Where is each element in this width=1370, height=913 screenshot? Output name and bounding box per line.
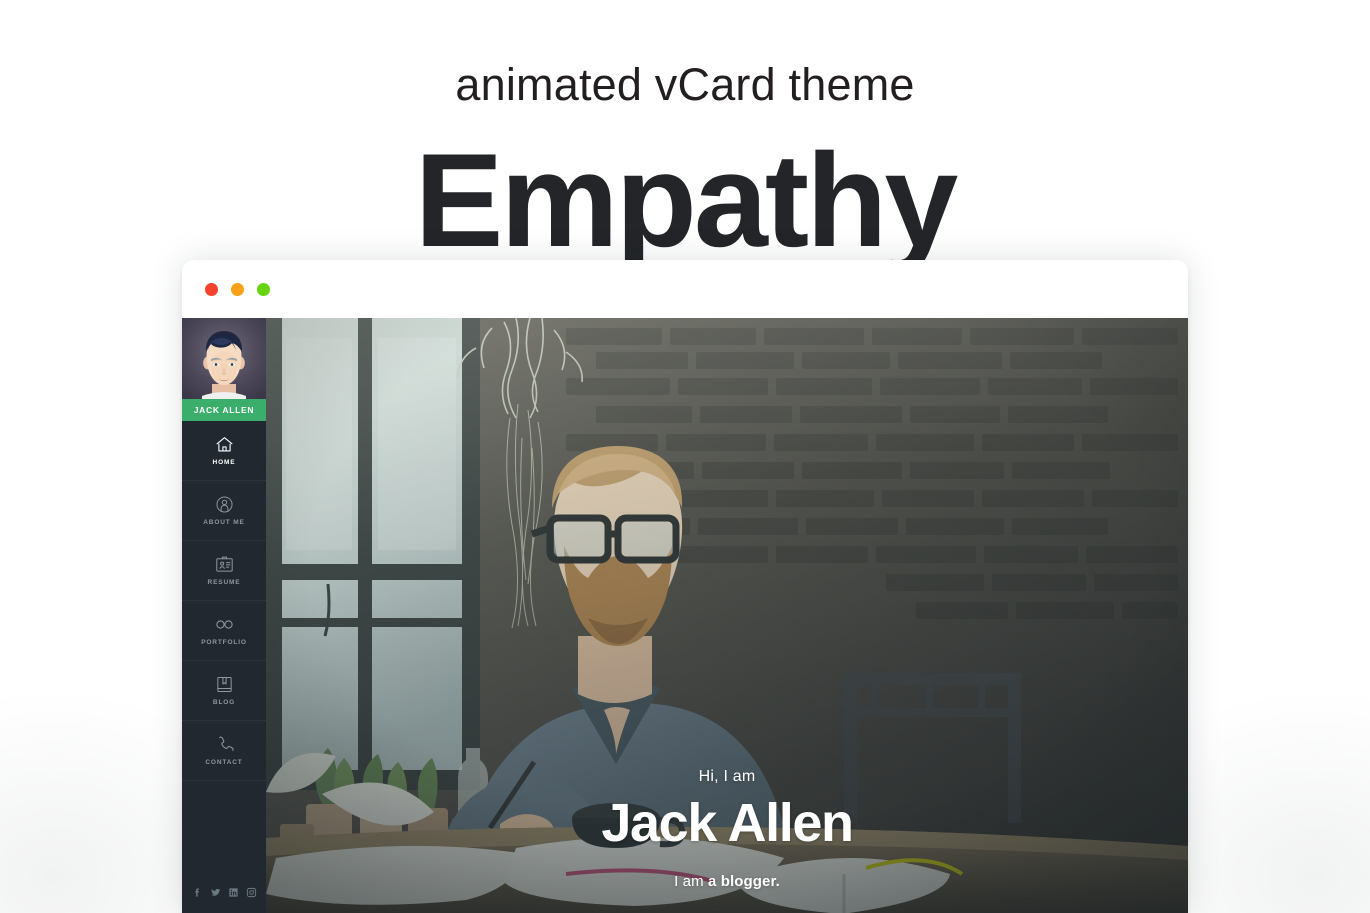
user-circle-icon	[214, 494, 235, 515]
hero-section: Hi, I am Jack Allen I am a blogger.	[266, 318, 1188, 913]
sidebar-item-about-me[interactable]: ABOUT ME	[182, 481, 266, 541]
sidebar-item-label: RESUME	[208, 580, 241, 587]
sidebar-name-badge: JACK ALLEN	[182, 399, 266, 421]
sidebar-social-links	[182, 877, 266, 913]
avatar[interactable]	[182, 318, 266, 399]
sidebar-item-blog[interactable]: BLOG	[182, 661, 266, 721]
promo-subtitle: animated vCard theme	[0, 62, 1370, 107]
site-sidebar: JACK ALLEN HOME	[182, 318, 266, 913]
hero-name: Jack Allen	[266, 794, 1188, 852]
id-card-icon	[214, 554, 235, 575]
hero-role-prefix: I am	[674, 873, 708, 890]
minimize-window-dot[interactable]	[231, 283, 244, 296]
twitter-icon[interactable]	[210, 887, 221, 898]
sidebar-item-label: ABOUT ME	[203, 520, 244, 527]
maximize-window-dot[interactable]	[257, 283, 270, 296]
hero-role: I am a blogger.	[266, 874, 1188, 889]
sidebar-item-contact[interactable]: CONTACT	[182, 721, 266, 781]
sidebar-nav: HOME ABOUT ME	[182, 421, 266, 781]
site-viewport: JACK ALLEN HOME	[182, 318, 1188, 913]
browser-titlebar	[182, 260, 1188, 318]
book-icon	[214, 674, 235, 695]
sidebar-item-label: PORTFOLIO	[201, 640, 247, 647]
hero-text-block: Hi, I am Jack Allen I am a blogger.	[266, 769, 1188, 889]
linkedin-icon[interactable]	[228, 887, 239, 898]
instagram-icon[interactable]	[246, 887, 257, 898]
sidebar-item-label: BLOG	[213, 700, 235, 707]
sidebar-item-label: HOME	[213, 460, 236, 467]
sidebar-item-label: CONTACT	[205, 760, 242, 767]
phone-icon	[214, 734, 235, 755]
glasses-icon	[214, 614, 235, 635]
close-window-dot[interactable]	[205, 283, 218, 296]
facebook-icon[interactable]	[192, 887, 203, 898]
promo-title: Empathy	[0, 135, 1370, 268]
sidebar-item-resume[interactable]: RESUME	[182, 541, 266, 601]
hero-greeting: Hi, I am	[266, 769, 1188, 785]
promo-heading-block: animated vCard theme Empathy	[0, 0, 1370, 268]
sidebar-spacer	[182, 781, 266, 877]
sidebar-item-home[interactable]: HOME	[182, 421, 266, 481]
hero-role-strong: a blogger.	[708, 873, 780, 890]
home-icon	[214, 434, 235, 455]
browser-window-mockup: JACK ALLEN HOME	[182, 260, 1188, 913]
sidebar-item-portfolio[interactable]: PORTFOLIO	[182, 601, 266, 661]
